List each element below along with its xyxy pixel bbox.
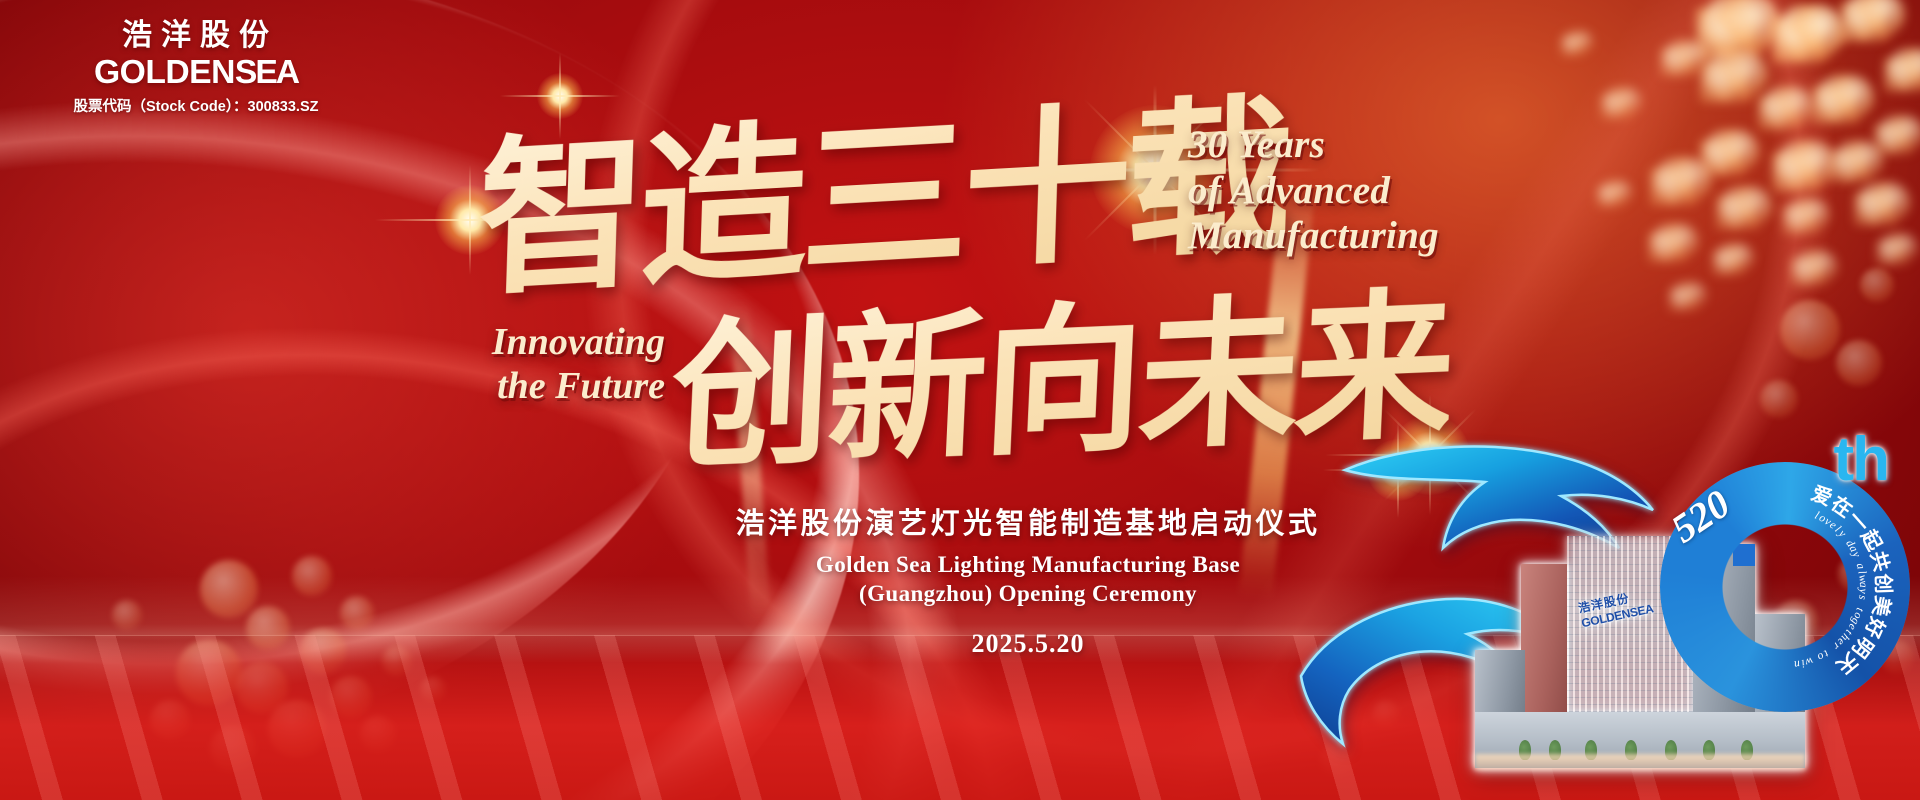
ring-slogan-char: y bbox=[1857, 588, 1869, 594]
banner-canvas: 浩洋股份 GOLDENSEA 股票代码（Stock Code）：300833.S… bbox=[0, 0, 1920, 800]
ring-slogan-char: s bbox=[1856, 594, 1868, 600]
heart-bokeh bbox=[1700, 62, 1748, 103]
headline-english-left-line-2: the Future bbox=[455, 364, 665, 408]
event-name-english-line-2: (Guangzhou) Opening Ceremony bbox=[859, 581, 1197, 606]
bokeh-circle bbox=[1780, 300, 1840, 360]
heart-bokeh bbox=[1854, 192, 1894, 226]
heart-bokeh bbox=[1560, 36, 1584, 57]
heart-bokeh bbox=[1758, 96, 1798, 130]
stock-code-label: 股票代码（Stock Code）：300833.SZ bbox=[46, 95, 346, 116]
headline-english-right: 30 Years of Advanced Manufacturing bbox=[1188, 122, 1439, 259]
heart-bokeh bbox=[1600, 94, 1630, 120]
bokeh-circle bbox=[1836, 340, 1882, 386]
heart-bokeh bbox=[1782, 206, 1816, 235]
anniversary-ring: 520 爱在一起共创美好明天 lovely day always togethe… bbox=[1660, 462, 1910, 712]
heart-bokeh bbox=[1772, 18, 1824, 63]
headline-english-left-line-1: Innovating bbox=[455, 320, 665, 364]
headline-english-right-line-1: 30 Years bbox=[1188, 122, 1439, 168]
heart-bokeh bbox=[1874, 124, 1910, 155]
anniversary-emblem[interactable]: 浩洋股份 GOLDENSEA 520 爱在一起共创美好明天 lovely day… bbox=[1345, 430, 1920, 800]
company-logo[interactable]: 浩洋股份 GOLDENSEA 股票代码（Stock Code）：300833.S… bbox=[46, 20, 346, 116]
heart-bokeh bbox=[1830, 150, 1868, 183]
heart-bokeh bbox=[1596, 186, 1622, 208]
event-name-english-line-1: Golden Sea Lighting Manufacturing Base bbox=[816, 552, 1240, 577]
logo-english-sea: SEA bbox=[235, 55, 298, 88]
heart-bokeh bbox=[1650, 168, 1694, 206]
foreground-road-glow bbox=[1475, 754, 1805, 770]
heart-bokeh bbox=[1660, 48, 1694, 77]
headline-english-right-line-3: Manufacturing bbox=[1188, 213, 1439, 259]
heart-bokeh bbox=[1648, 232, 1684, 263]
event-name-english-wrap: Golden Sea Lighting Manufacturing Base (… bbox=[816, 550, 1240, 609]
heart-bokeh bbox=[1840, 2, 1886, 42]
logo-english-golden: GOLDEN bbox=[94, 55, 235, 88]
logo-chinese-name: 浩洋股份 bbox=[46, 20, 346, 52]
heart-bokeh bbox=[1700, 140, 1742, 176]
ring-slogan-char: n bbox=[1793, 658, 1801, 671]
event-date-text: 2025.5.20 bbox=[972, 629, 1085, 659]
heart-bokeh bbox=[1716, 196, 1756, 230]
heart-bokeh bbox=[1884, 58, 1920, 92]
heart-bokeh bbox=[1696, 8, 1756, 60]
heart-bokeh bbox=[1772, 152, 1818, 192]
heart-bokeh bbox=[1668, 288, 1696, 312]
headline-english-right-line-2: of Advanced bbox=[1188, 168, 1439, 214]
ring-slogan-char: a bbox=[1857, 582, 1869, 588]
heart-bokeh bbox=[1790, 258, 1824, 287]
ring-slogan-english: lovely day always together to win bbox=[1660, 462, 1910, 712]
bokeh-circle bbox=[1860, 268, 1894, 302]
heart-bokeh bbox=[1712, 250, 1742, 276]
bokeh-circle bbox=[1760, 380, 1798, 418]
anniversary-th-suffix: th bbox=[1833, 424, 1888, 495]
headline-english-left: Innovating the Future bbox=[455, 320, 665, 409]
event-name-chinese-text: 浩洋股份演艺灯光智能制造基地启动仪式 bbox=[735, 500, 1320, 542]
logo-english-name: GOLDENSEA bbox=[43, 55, 349, 88]
heart-bokeh bbox=[1876, 240, 1906, 266]
heart-bokeh bbox=[1812, 86, 1856, 124]
